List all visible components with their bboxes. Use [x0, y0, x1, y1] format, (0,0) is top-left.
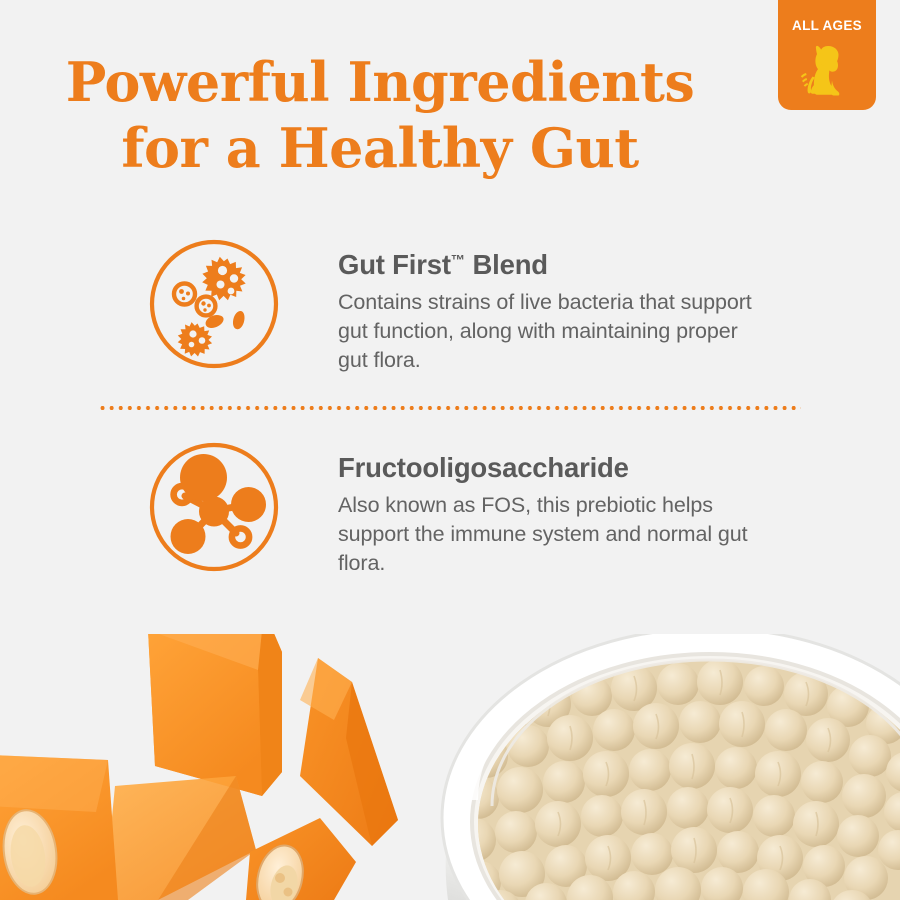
sitting-dog-icon	[795, 40, 859, 100]
molecule-icon	[148, 441, 280, 573]
feature-text-gut-first-blend: Gut First™ Blend Contains strains of liv…	[338, 238, 758, 375]
feature-heading-gut-first-blend: Gut First™ Blend	[338, 250, 758, 281]
feature-heading-suffix: Blend	[465, 249, 548, 280]
page-title: Powerful Ingredients for a Healthy Gut	[0, 50, 760, 182]
page-title-line-1: Powerful Ingredients	[0, 50, 760, 116]
feature-body-fructooligosaccharide: Also known as FOS, this prebiotic helps …	[338, 491, 758, 578]
feature-body-gut-first-blend: Contains strains of live bacteria that s…	[338, 288, 758, 375]
feature-heading-fructooligosaccharide: Fructooligosaccharide	[338, 453, 758, 484]
feature-item-gut-first-blend: Gut First™ Blend Contains strains of liv…	[148, 238, 758, 375]
all-ages-badge-label: ALL AGES	[792, 19, 862, 33]
bacteria-microbes-icon	[148, 238, 280, 370]
all-ages-badge: ALL AGES	[778, 0, 876, 110]
infographic-canvas: ALL AGES	[0, 0, 900, 900]
dotted-divider	[98, 406, 801, 410]
feature-item-fructooligosaccharide: Fructooligosaccharide Also known as FOS,…	[148, 441, 758, 578]
ingredient-photo-strip	[0, 600, 900, 900]
feature-heading-main: Gut First	[338, 249, 451, 280]
feature-text-fructooligosaccharide: Fructooligosaccharide Also known as FOS,…	[338, 441, 758, 578]
page-title-line-2: for a Healthy Gut	[0, 116, 760, 182]
trademark-symbol: ™	[451, 253, 465, 269]
